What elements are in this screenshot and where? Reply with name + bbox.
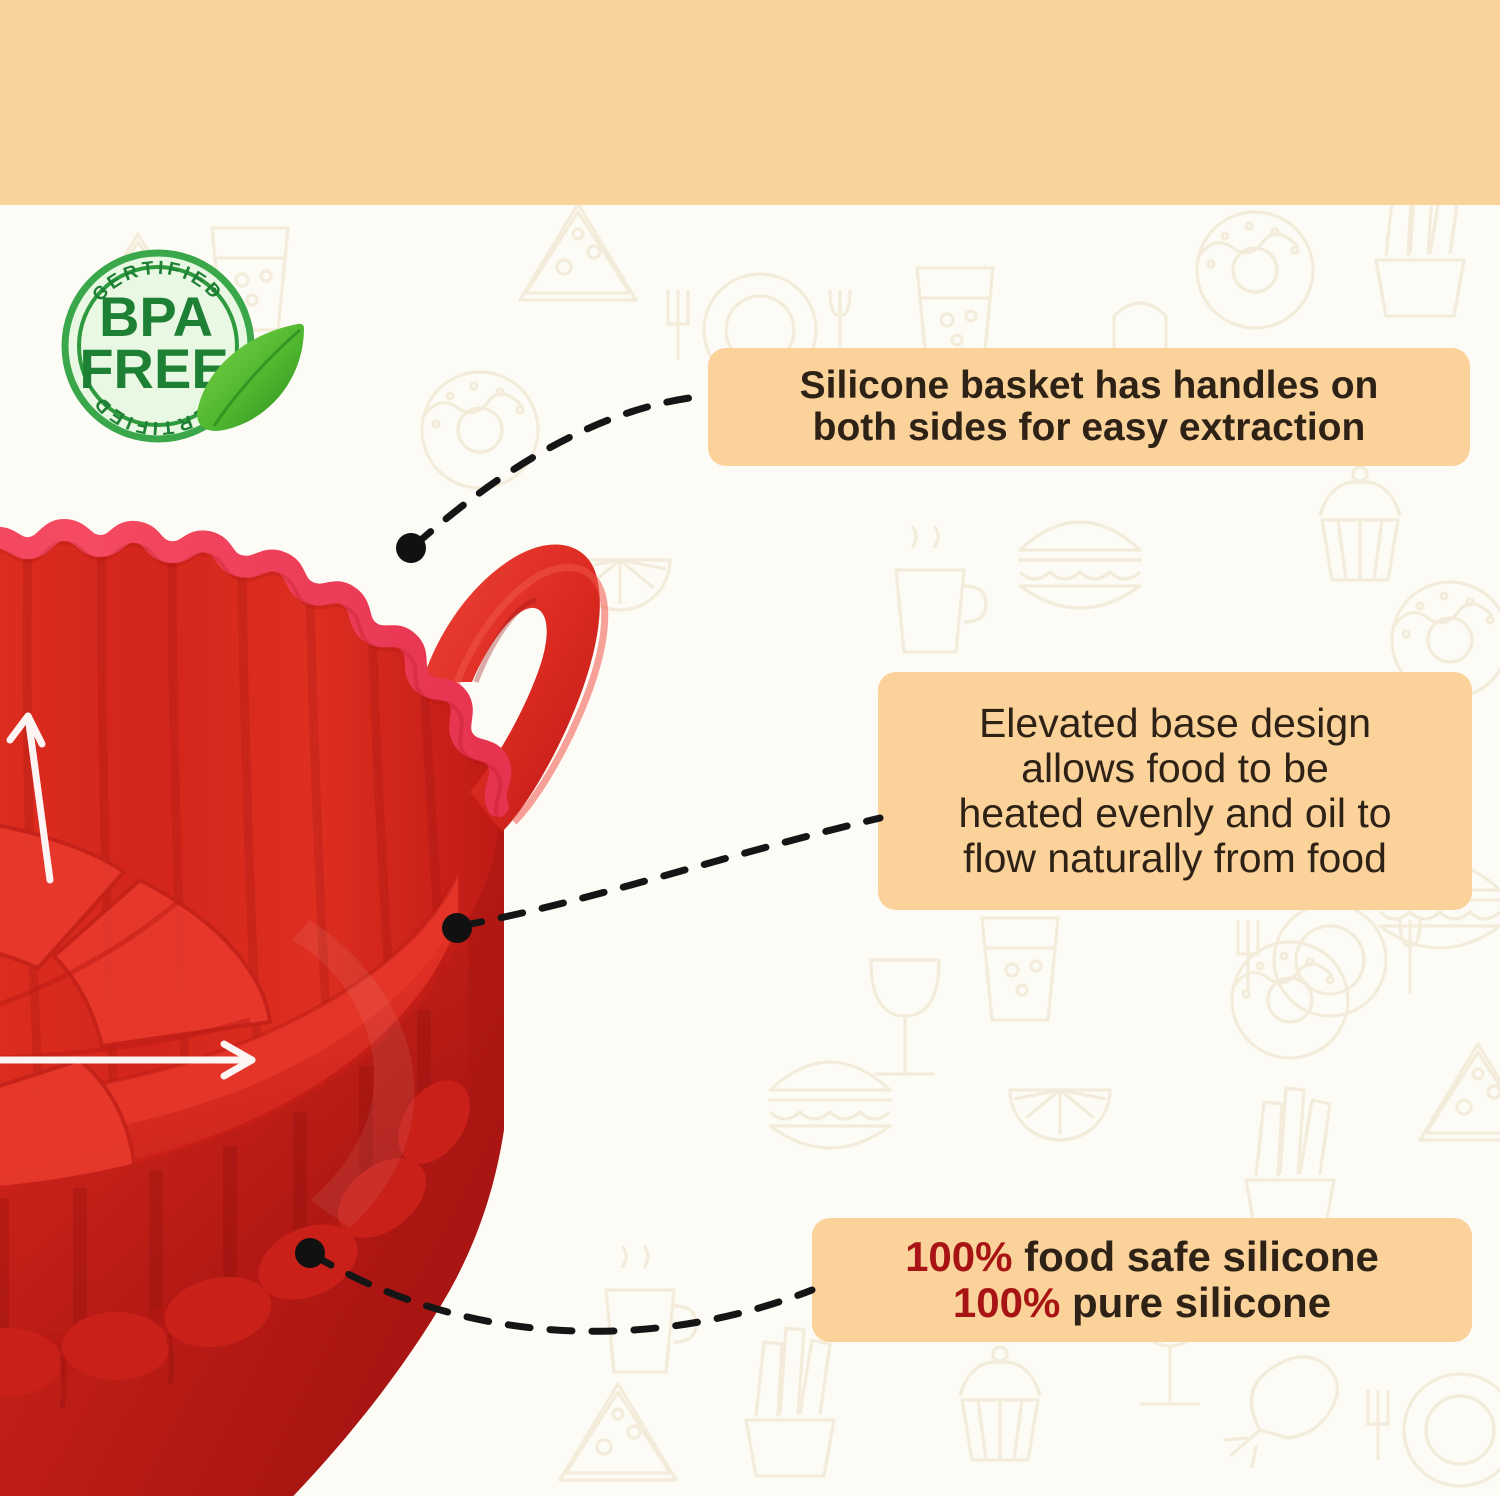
header-banner bbox=[0, 0, 1500, 205]
callout-base-line-3: heated evenly and oil to bbox=[958, 791, 1391, 836]
callout-safe-pct-1: 100% bbox=[905, 1233, 1012, 1280]
callout-safe-line-2: 100% pure silicone bbox=[905, 1280, 1379, 1326]
callout-handles-line-2: both sides for easy extraction bbox=[800, 407, 1379, 449]
callout-food-safe: 100% food safe silicone 100% pure silico… bbox=[812, 1218, 1472, 1342]
callout-safe-text-2: pure silicone bbox=[1060, 1279, 1331, 1326]
callout-elevated-base: Elevated base design allows food to be h… bbox=[878, 672, 1472, 910]
product-infographic: UPGRADED SILICONE BASKETS bbox=[0, 0, 1500, 1496]
callout-base-line-2: allows food to be bbox=[958, 746, 1391, 791]
callout-base-line-1: Elevated base design bbox=[958, 701, 1391, 746]
callout-safe-text-1: food safe silicone bbox=[1013, 1233, 1379, 1280]
callout-safe-line-1: 100% food safe silicone bbox=[905, 1234, 1379, 1280]
bpa-free-certified-badge: CERTIFIED CERTIFIED BPA FREE bbox=[48, 238, 318, 448]
callout-base-line-4: flow naturally from food bbox=[958, 836, 1391, 881]
callout-safe-pct-2: 100% bbox=[953, 1279, 1060, 1326]
badge-dot-bottom-left bbox=[103, 401, 108, 406]
callout-handles: Silicone basket has handles on both side… bbox=[708, 348, 1470, 466]
red-silicone-basket-illustration bbox=[0, 360, 890, 1496]
callout-handles-line-1: Silicone basket has handles on bbox=[800, 365, 1379, 407]
